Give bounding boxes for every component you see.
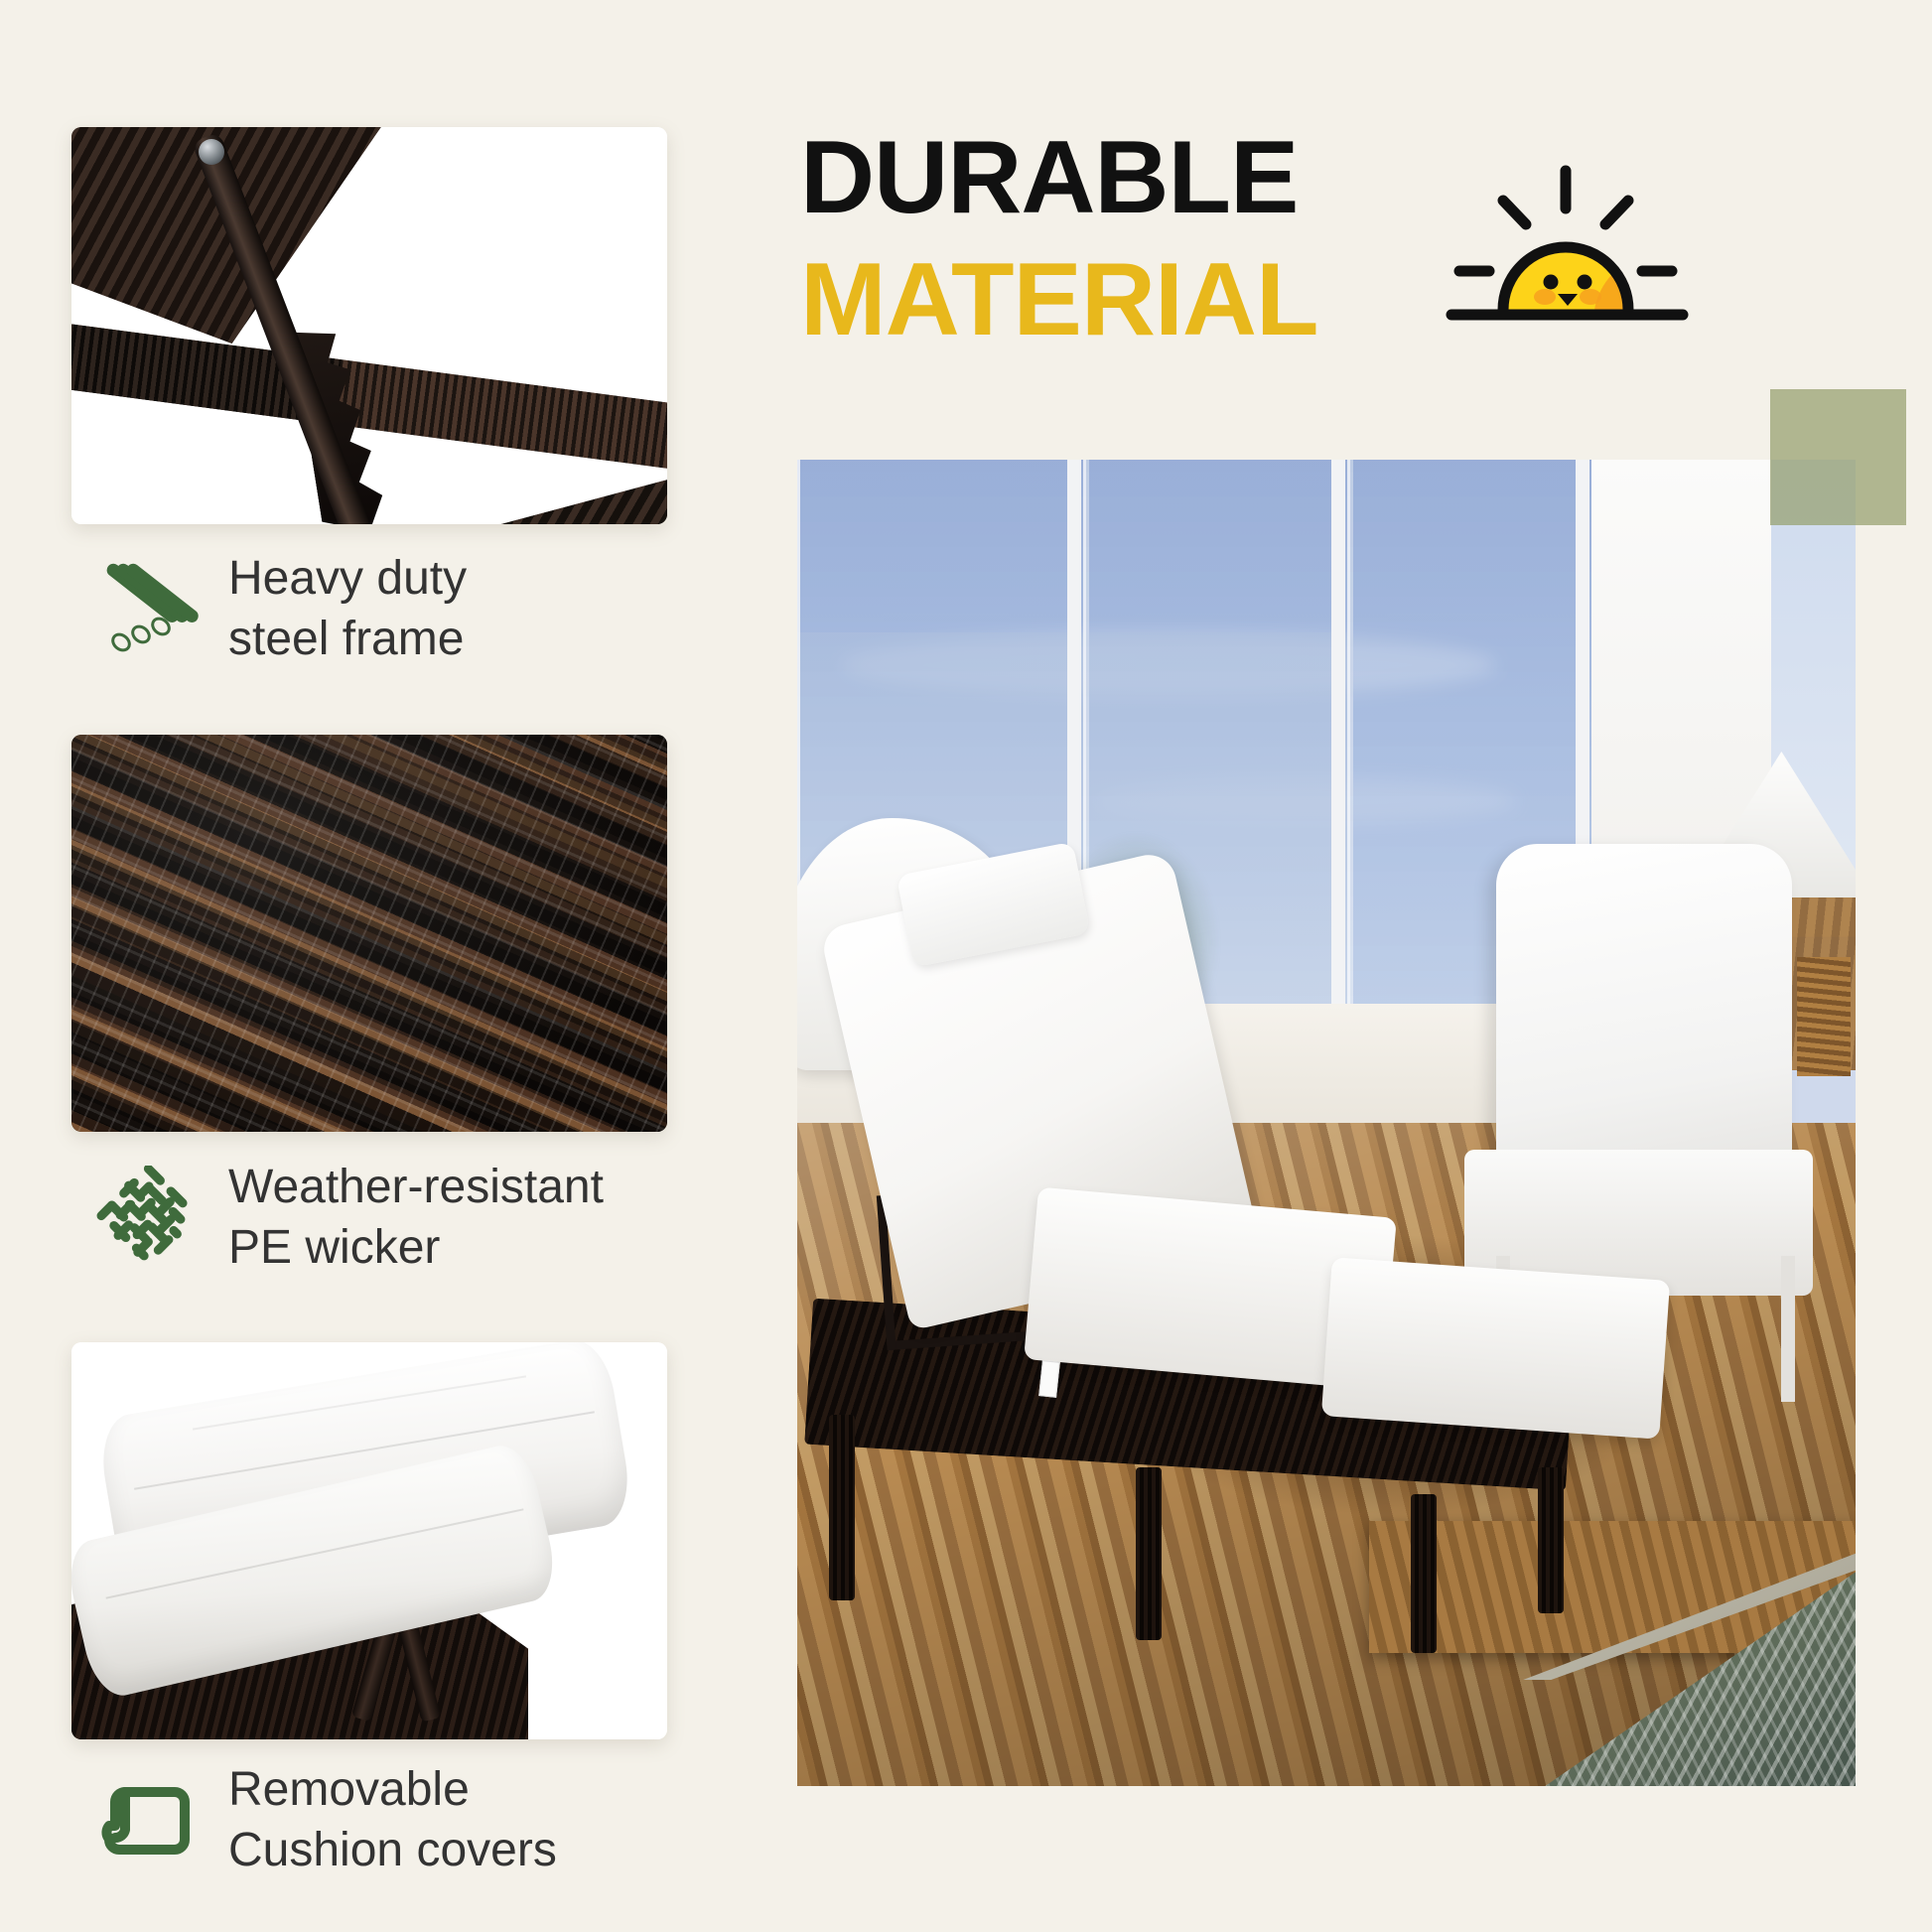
removable-cover-icon [95, 1768, 199, 1871]
decorative-square [1770, 389, 1906, 525]
headline-line-2: MATERIAL [800, 239, 1515, 361]
feature-row-pe-wicker: Weather-resistant PE wicker [95, 1157, 691, 1279]
page-title: DURABLE MATERIAL [800, 117, 1515, 360]
steel-tubes-icon [95, 557, 199, 660]
hero-product-photo [797, 460, 1856, 1786]
feature-label-steel-frame: Heavy duty steel frame [228, 548, 467, 670]
feature-label-cushion-cover: Removable Cushion covers [228, 1759, 557, 1881]
rising-sun-icon [1442, 159, 1690, 333]
infographic-canvas: DURABLE MATERIAL [0, 0, 1932, 1932]
woven-wicker-icon [95, 1166, 199, 1269]
headline-line-1: DURABLE [800, 117, 1515, 239]
feature-photo-steel-frame [71, 127, 667, 524]
feature-row-cushion-cover: Removable Cushion covers [95, 1759, 691, 1881]
feature-row-steel-frame: Heavy duty steel frame [95, 548, 691, 670]
feature-photo-pe-wicker [71, 735, 667, 1132]
feature-label-pe-wicker: Weather-resistant PE wicker [228, 1157, 604, 1279]
feature-photo-cushion-cover [71, 1342, 667, 1739]
